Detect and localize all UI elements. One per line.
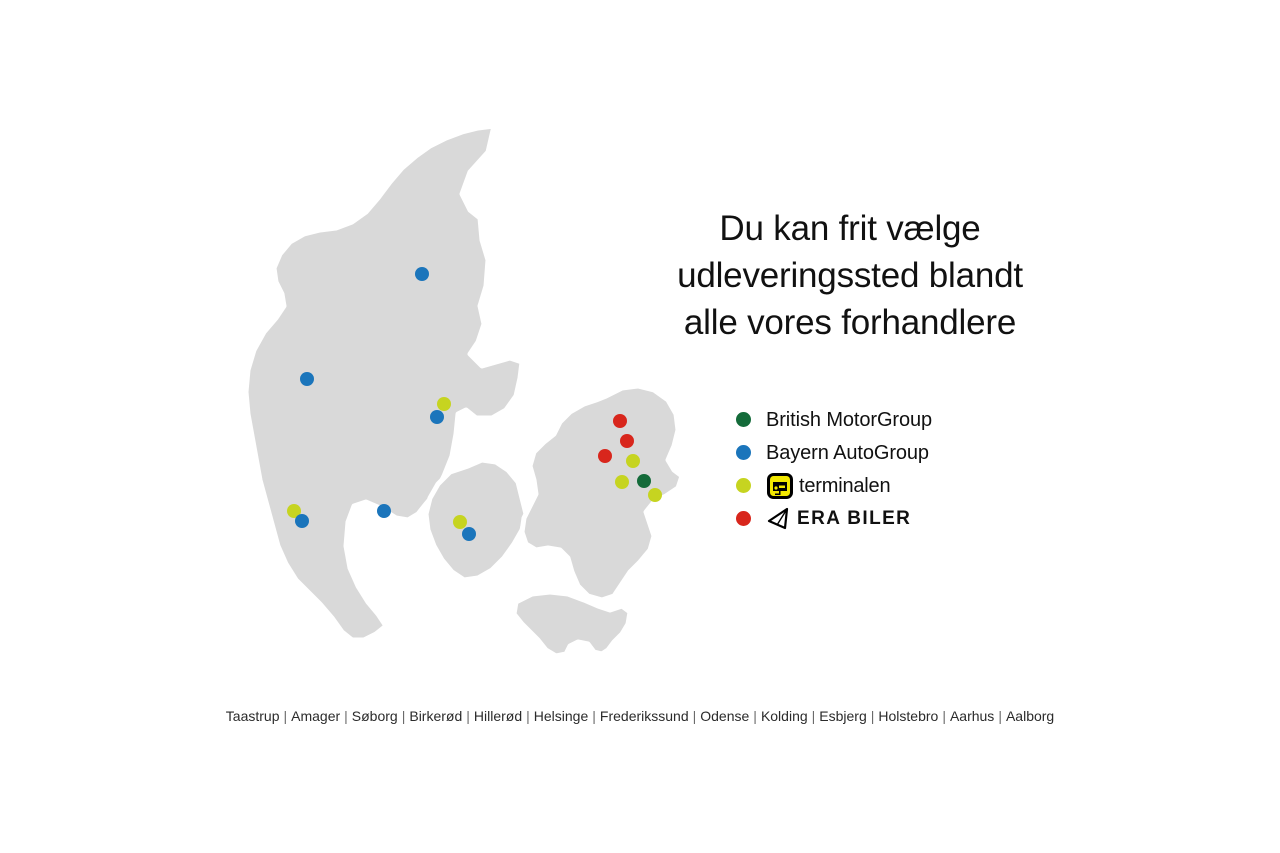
- city-name: Frederikssund: [600, 708, 689, 724]
- city-name: Birkerød: [409, 708, 462, 724]
- era-biler-triangle-icon: [766, 507, 792, 531]
- city-name: Odense: [700, 708, 749, 724]
- headline-line-3: alle vores forhandlere: [620, 299, 1080, 346]
- city-separator: |: [279, 708, 291, 724]
- city-separator: |: [938, 708, 950, 724]
- city-name: Kolding: [761, 708, 808, 724]
- map-dot-taastrup[interactable]: [648, 488, 662, 502]
- denmark-map-svg: [230, 110, 700, 680]
- city-separator: |: [808, 708, 820, 724]
- map-dot-frederikssund[interactable]: [598, 449, 612, 463]
- legend-color-swatch-yellow: [736, 478, 751, 493]
- city-name: Holstebro: [878, 708, 938, 724]
- city-name: Aalborg: [1006, 708, 1054, 724]
- page-title: Du kan frit vælge udleveringssted blandt…: [620, 205, 1080, 346]
- legend-item-bayern-autogroup[interactable]: Bayern AutoGroup: [736, 436, 1066, 469]
- city-name: Aarhus: [950, 708, 994, 724]
- city-separator: |: [340, 708, 352, 724]
- legend-item-british-motorgroup[interactable]: British MotorGroup: [736, 403, 1066, 436]
- era-biler-logo: ERA BILER: [766, 507, 911, 531]
- map-dot-esbjerg-bayern[interactable]: [295, 514, 309, 528]
- city-separator: |: [462, 708, 474, 724]
- city-separator: |: [994, 708, 1006, 724]
- legend-label-british-motorgroup: British MotorGroup: [766, 410, 932, 430]
- legend-label-terminalen: terminalen: [799, 476, 890, 496]
- city-name: Hillerød: [474, 708, 522, 724]
- city-name: Esbjerg: [819, 708, 866, 724]
- map-dot-odense-term[interactable]: [453, 515, 467, 529]
- terminalen-logo: terminalen: [766, 472, 890, 500]
- map-dot-helsinge[interactable]: [613, 414, 627, 428]
- legend-color-swatch-blue: [736, 445, 751, 460]
- poster-canvas: Du kan frit vælge udleveringssted blandt…: [0, 0, 1280, 853]
- map-dot-soborg[interactable]: [615, 475, 629, 489]
- legend-color-swatch-green: [736, 412, 751, 427]
- denmark-map: [230, 110, 700, 680]
- map-dot-holstebro[interactable]: [300, 372, 314, 386]
- city-separator: |: [689, 708, 701, 724]
- map-dot-aarhus-bayern[interactable]: [430, 410, 444, 424]
- map-landmasses: [246, 126, 682, 656]
- map-dot-odense-bayern[interactable]: [462, 527, 476, 541]
- city-name: Helsinge: [534, 708, 588, 724]
- map-dot-birkerod[interactable]: [626, 454, 640, 468]
- map-dot-kolding[interactable]: [377, 504, 391, 518]
- map-dot-aalborg[interactable]: [415, 267, 429, 281]
- map-dot-amager[interactable]: [637, 474, 651, 488]
- landmass-funen: [426, 460, 526, 580]
- headline-line-2: udleveringssted blandt: [620, 252, 1080, 299]
- map-dot-hillerod[interactable]: [620, 434, 634, 448]
- headline-line-1: Du kan frit vælge: [620, 205, 1080, 252]
- legend-color-swatch-red: [736, 511, 751, 526]
- city-separator: |: [398, 708, 410, 724]
- map-dot-aarhus-term[interactable]: [437, 397, 451, 411]
- legend-label-era-biler: ERA BILER: [797, 509, 911, 529]
- landmass-lolland-falster: [514, 592, 630, 656]
- terminalen-mark-icon: [766, 472, 794, 500]
- city-separator: |: [867, 708, 879, 724]
- city-name: Taastrup: [226, 708, 280, 724]
- city-name: Amager: [291, 708, 340, 724]
- city-list: Taastrup|Amager|Søborg|Birkerød|Hillerød…: [0, 706, 1280, 726]
- city-separator: |: [522, 708, 534, 724]
- city-separator: |: [588, 708, 600, 724]
- legend-item-terminalen[interactable]: terminalen: [736, 469, 1066, 502]
- city-name: Søborg: [352, 708, 398, 724]
- legend-item-era-biler[interactable]: ERA BILER: [736, 502, 1066, 535]
- brand-legend: British MotorGroup Bayern AutoGroup term…: [736, 403, 1066, 535]
- legend-label-bayern-autogroup: Bayern AutoGroup: [766, 443, 929, 463]
- city-separator: |: [749, 708, 761, 724]
